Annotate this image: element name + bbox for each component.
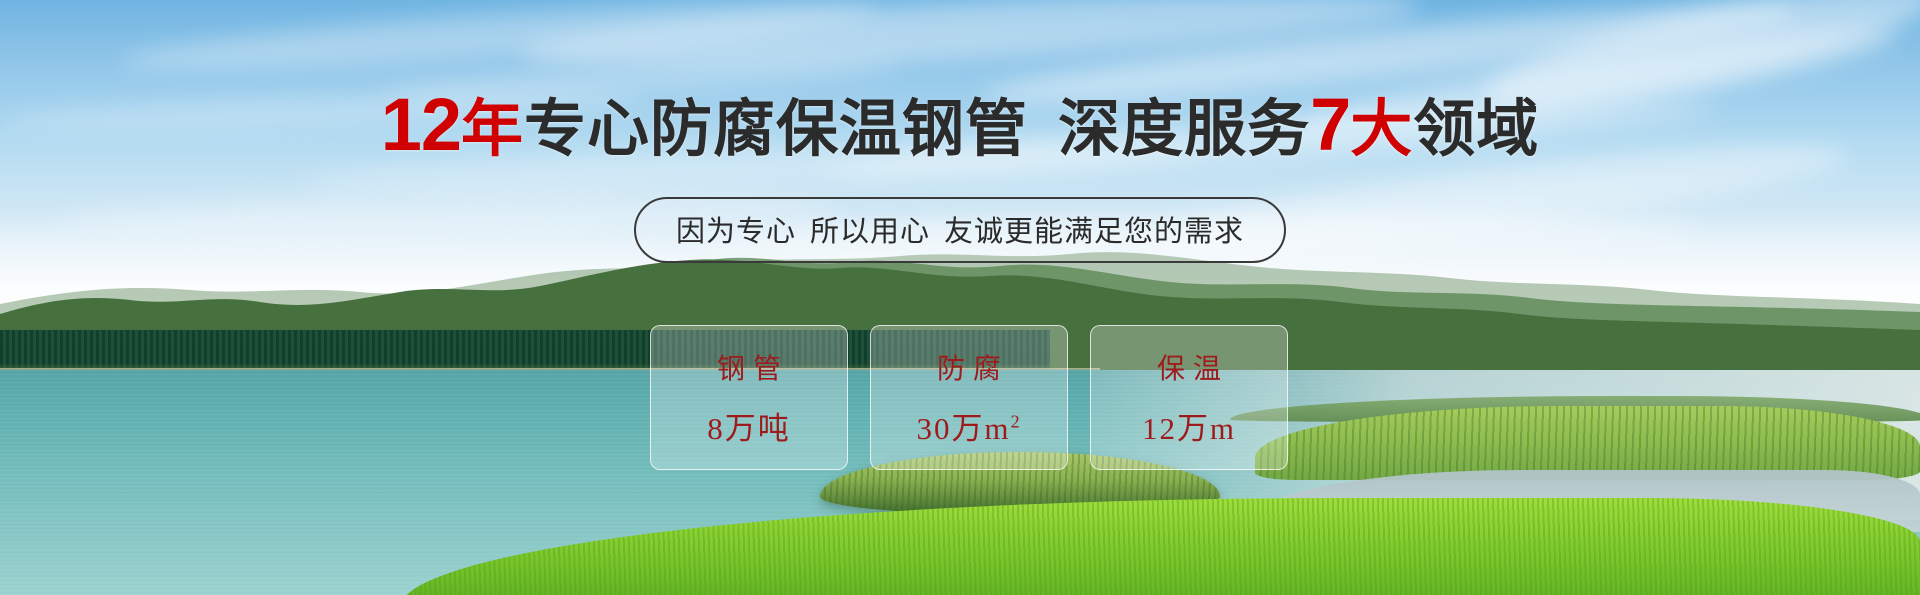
stat-card-anticorrosion: 防腐 30万m2 xyxy=(870,325,1068,470)
promo-banner: 12年专心防腐保温钢管深度服务7大领域 因为专心所以用心友诚更能满足您的需求 钢… xyxy=(0,0,1920,595)
subtitle-container: 因为专心所以用心友诚更能满足您的需求 xyxy=(0,197,1920,263)
stat-card-value: 12万m xyxy=(1142,403,1236,448)
stat-card-value-main: 8万吨 xyxy=(707,411,791,446)
headline-years-unit: 年 xyxy=(461,95,524,164)
subtitle-part-2: 所以用心 xyxy=(810,216,930,248)
stat-card-value: 30万m2 xyxy=(916,403,1021,448)
stat-card-value-main: 12万m xyxy=(1142,411,1236,446)
stat-cards: 钢管 8万吨 防腐 30万m2 保温 12万m xyxy=(650,325,1290,470)
subtitle-part-1: 因为专心 xyxy=(676,216,796,248)
headline-fields-text: 领域 xyxy=(1413,95,1539,164)
stat-card-value: 8万吨 xyxy=(707,403,791,448)
headline-main-text: 专心防腐保温钢管 xyxy=(524,95,1028,164)
stat-card-label: 防腐 xyxy=(929,347,1009,387)
headline-service-text: 深度服务 xyxy=(1058,95,1310,164)
stat-card-insulation: 保温 12万m xyxy=(1090,325,1288,470)
stat-card-label: 保温 xyxy=(1149,347,1229,387)
headline-years-number: 12 xyxy=(381,83,461,166)
stat-card-value-main: 30万m xyxy=(916,411,1010,446)
headline-fields-unit: 大 xyxy=(1350,95,1413,164)
stat-card-steel-pipe: 钢管 8万吨 xyxy=(650,325,848,470)
subtitle-pill: 因为专心所以用心友诚更能满足您的需求 xyxy=(634,197,1286,263)
headline-fields-number: 7 xyxy=(1310,83,1350,166)
stat-card-superscript: 2 xyxy=(1011,412,1022,432)
subtitle-part-3: 友诚更能满足您的需求 xyxy=(944,216,1244,248)
headline: 12年专心防腐保温钢管深度服务7大领域 xyxy=(0,88,1920,162)
stat-card-label: 钢管 xyxy=(709,347,789,387)
